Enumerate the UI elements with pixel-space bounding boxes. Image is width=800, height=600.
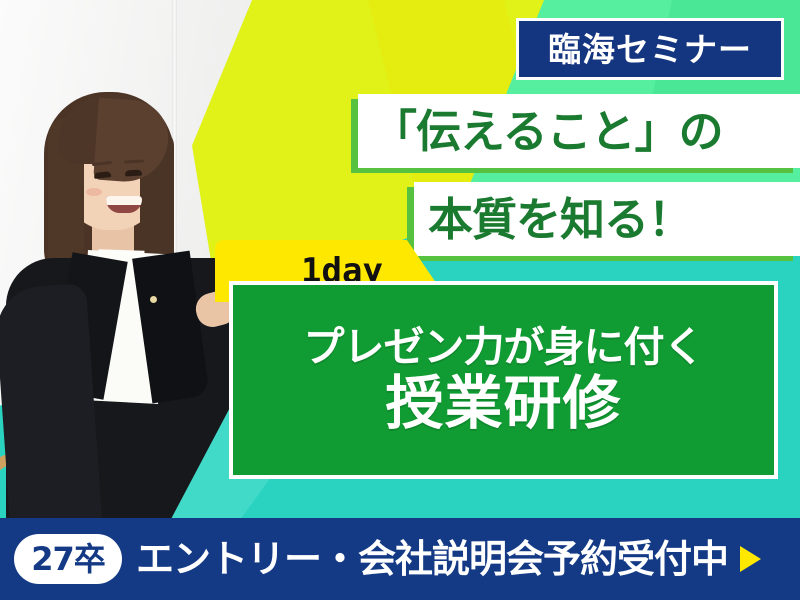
grad-year-badge: 27卒	[14, 534, 122, 584]
headline-band-first: 「伝えること」の	[358, 94, 800, 168]
headline-band-second: 本質を知る！	[414, 182, 800, 256]
headline-line-1: 「伝えること」の	[358, 109, 723, 154]
photo-lapel-pin	[150, 296, 157, 303]
photo-teeth	[106, 196, 142, 205]
brand-badge-label: 臨海セミナー	[548, 33, 752, 66]
photo-eye-right	[125, 170, 142, 177]
headline-line-2: 本質を知る！	[414, 197, 692, 242]
grad-year-label: 27卒	[31, 543, 105, 575]
recruitment-banner[interactable]: 臨海セミナー 「伝えること」の 本質を知る！ 1day プレゼン力が身に付く 授…	[0, 0, 800, 600]
photo-sleeve	[0, 283, 102, 520]
program-panel: プレゼン力が身に付く 授業研修	[229, 281, 778, 479]
cta-bar[interactable]: 27卒 エントリー・会社説明会予約受付中	[0, 518, 800, 600]
triangle-right-icon[interactable]	[740, 546, 761, 572]
program-subtitle: プレゼン力が身に付く	[304, 326, 704, 369]
program-title: 授業研修	[385, 373, 621, 434]
cta-label: エントリー・会社説明会予約受付中	[136, 540, 728, 578]
brand-badge: 臨海セミナー	[516, 18, 784, 80]
photo-cheek	[86, 188, 102, 196]
